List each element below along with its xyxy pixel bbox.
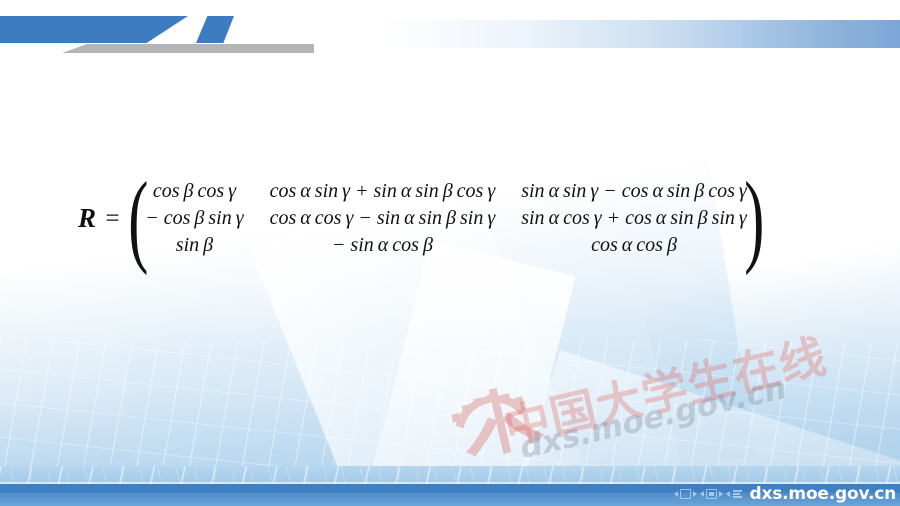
footer-deco-group-3 [726, 490, 742, 498]
matrix-cell-r2c2: cos α cos β [521, 233, 747, 258]
matrix-cell-r0c0: cos β cos γ [145, 179, 243, 204]
matrix-cell-r2c0: sin β [145, 233, 243, 258]
slide-canvas: R = ( cos β cos γ cos α sin γ + sin α si… [0, 0, 900, 506]
footer-decoration-icons [674, 489, 742, 499]
square-filled-icon [706, 489, 717, 499]
matrix-cell-r0c1: cos α sin γ + sin α sin β cos γ [270, 179, 496, 204]
matrix-cell-r0c2: sin α sin γ − cos α sin β cos γ [521, 179, 747, 204]
footer-right-group: dxs.moe.gov.cn [674, 483, 896, 505]
header-gray-bar [62, 44, 314, 53]
equation-lhs-symbol: R [78, 203, 103, 234]
left-triangle-icon [700, 491, 704, 497]
matrix-cell-r1c0: − cos β sin γ [145, 206, 243, 231]
matrix-cell-r1c1: cos α cos γ − sin α sin β sin γ [270, 206, 496, 231]
matrix-equation: R = ( cos β cos γ cos α sin γ + sin α si… [78, 178, 763, 259]
stacked-lines-icon [733, 490, 742, 498]
footer-deco-group-2 [700, 489, 723, 499]
matrix-close-paren: ) [744, 178, 764, 259]
matrix-open-paren: ( [128, 178, 148, 259]
header-gradient-bar [380, 20, 900, 48]
left-triangle-icon [726, 491, 730, 497]
matrix-cell-r1c2: sin α cos γ + cos α sin β sin γ [521, 206, 747, 231]
matrix-cell-r2c1: − sin α cos β [270, 233, 496, 258]
equation-equals-sign: = [103, 205, 129, 233]
right-triangle-icon [693, 491, 697, 497]
footer-deco-group-1 [674, 489, 697, 499]
left-triangle-icon [674, 491, 678, 497]
matrix-grid: cos β cos γ cos α sin γ + sin α sin β co… [145, 179, 747, 258]
right-triangle-icon [719, 491, 723, 497]
square-outline-icon [680, 489, 691, 499]
footer-url-text: dxs.moe.gov.cn [750, 486, 896, 503]
